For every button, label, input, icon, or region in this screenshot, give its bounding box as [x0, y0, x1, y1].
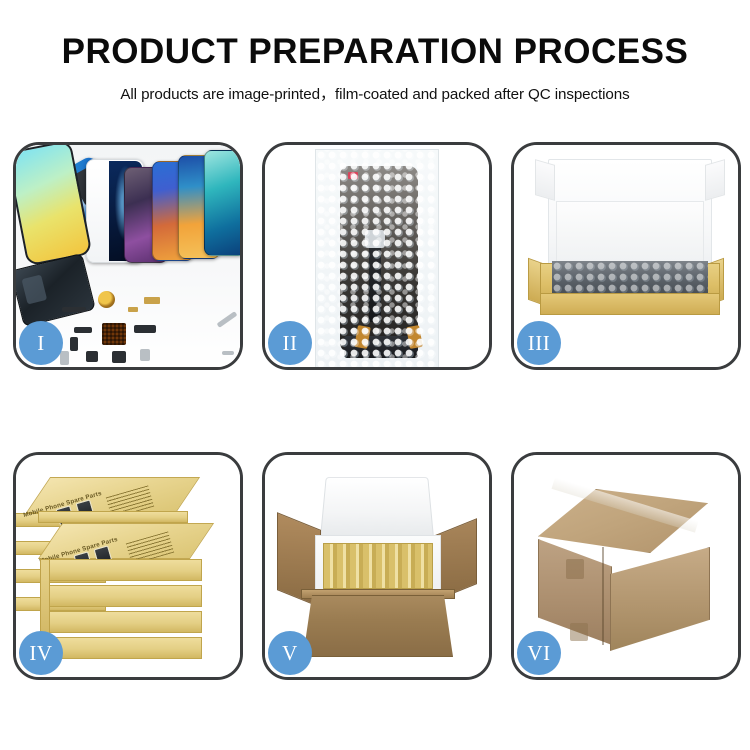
infographic-page: PRODUCT PREPARATION PROCESS All products…	[0, 0, 750, 750]
carton-tab-lower	[570, 623, 588, 641]
carton-corner-seam	[602, 547, 604, 645]
process-grid: I II	[13, 142, 742, 680]
carton-body	[303, 595, 453, 657]
retail-box-front-4	[40, 637, 202, 659]
step-badge-3: III	[517, 321, 561, 365]
process-step-1[interactable]: I	[13, 142, 243, 370]
retail-box-front-3	[40, 611, 202, 633]
retail-box-front-1	[40, 559, 202, 581]
part-speaker	[98, 291, 115, 308]
step-badge-1: I	[19, 321, 63, 365]
retail-box-edge-1	[38, 511, 188, 523]
part-flex-b	[128, 307, 138, 312]
step-badge-6: VI	[517, 631, 561, 675]
part-earpiece	[62, 307, 86, 312]
page-subtitle: All products are image-printed，film-coat…	[0, 82, 750, 104]
process-step-4[interactable]: Mobile Phone Spare Parts Mobile Phone Sp…	[13, 452, 243, 680]
step-badge-2: II	[268, 321, 312, 365]
carton-tab-upper	[566, 559, 584, 579]
process-step-6[interactable]: VI	[511, 452, 741, 680]
process-step-5[interactable]: V	[262, 452, 492, 680]
page-title: PRODUCT PREPARATION PROCESS	[0, 34, 750, 71]
step-badge-5: V	[268, 631, 312, 675]
gold-boxes-in-carton	[323, 543, 433, 589]
phone-display-teal	[204, 150, 240, 256]
retail-box-front-2	[40, 585, 202, 607]
part-battery-tab	[140, 349, 150, 361]
part-sim-tray	[60, 351, 69, 365]
bubble-texture-overlay	[316, 150, 438, 367]
part-flex-a	[144, 297, 160, 304]
step-badge-4: IV	[19, 631, 63, 675]
foam-sheet	[556, 201, 704, 263]
bubble-wrap-bag	[315, 149, 439, 367]
part-screw-tray	[102, 323, 126, 345]
process-step-3[interactable]: III	[511, 142, 741, 370]
process-step-2[interactable]: II	[262, 142, 492, 370]
part-bracket-b	[70, 337, 78, 351]
part-button	[112, 351, 126, 363]
wrapped-screens-in-box	[552, 261, 708, 295]
part-cable	[134, 325, 156, 333]
foam-lid	[320, 477, 434, 538]
carton-right-face	[610, 547, 710, 651]
part-camera	[86, 351, 98, 362]
part-bracket-a	[74, 327, 92, 333]
gold-box-front	[540, 293, 720, 315]
part-screwdriver	[222, 351, 234, 355]
header: PRODUCT PREPARATION PROCESS All products…	[0, 34, 750, 104]
